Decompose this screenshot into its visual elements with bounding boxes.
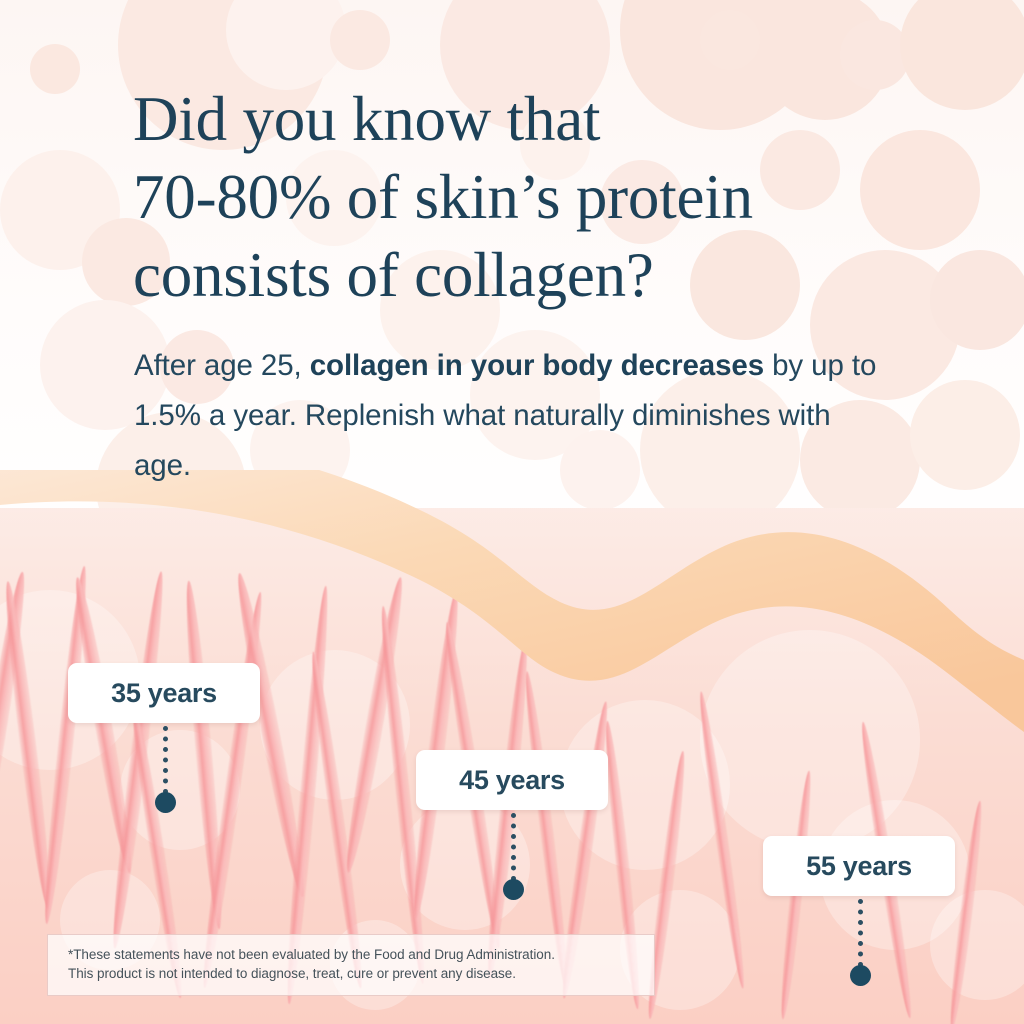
body-bold-emphasis: collagen in your body decreases — [310, 349, 764, 382]
headline-line-1: Did you know that — [133, 80, 943, 158]
page-title: Did you know that 70-80% of skin’s prote… — [133, 80, 943, 314]
marker-45-years-dot[interactable] — [503, 879, 524, 900]
marker-35-years-label[interactable]: 35 years — [68, 663, 260, 723]
epidermis-wave — [0, 470, 1024, 770]
bubble — [30, 44, 80, 94]
marker-55-years-leader-line — [858, 899, 863, 967]
bubble — [700, 10, 760, 70]
marker-45-years-label[interactable]: 45 years — [416, 750, 608, 810]
disclaimer-line-2: This product is not intended to diagnose… — [68, 964, 636, 983]
disclaimer-line-1: *These statements have not been evaluate… — [68, 945, 636, 964]
marker-35-years-dot[interactable] — [155, 792, 176, 813]
disclaimer-box: *These statements have not been evaluate… — [47, 934, 655, 996]
headline-line-2: 70-80% of skin’s protein — [133, 158, 943, 236]
marker-35-years-leader-line — [163, 726, 168, 794]
marker-45-years-leader-line — [511, 813, 516, 881]
infographic-canvas: Did you know that 70-80% of skin’s prote… — [0, 0, 1024, 1024]
headline-line-3: consists of collagen? — [133, 236, 943, 314]
bubble — [330, 10, 390, 70]
bubble — [930, 250, 1024, 350]
body-copy: After age 25, collagen in your body decr… — [134, 341, 894, 491]
marker-55-years-dot[interactable] — [850, 965, 871, 986]
marker-55-years-label[interactable]: 55 years — [763, 836, 955, 896]
body-segment-1: After age 25, — [134, 349, 310, 382]
